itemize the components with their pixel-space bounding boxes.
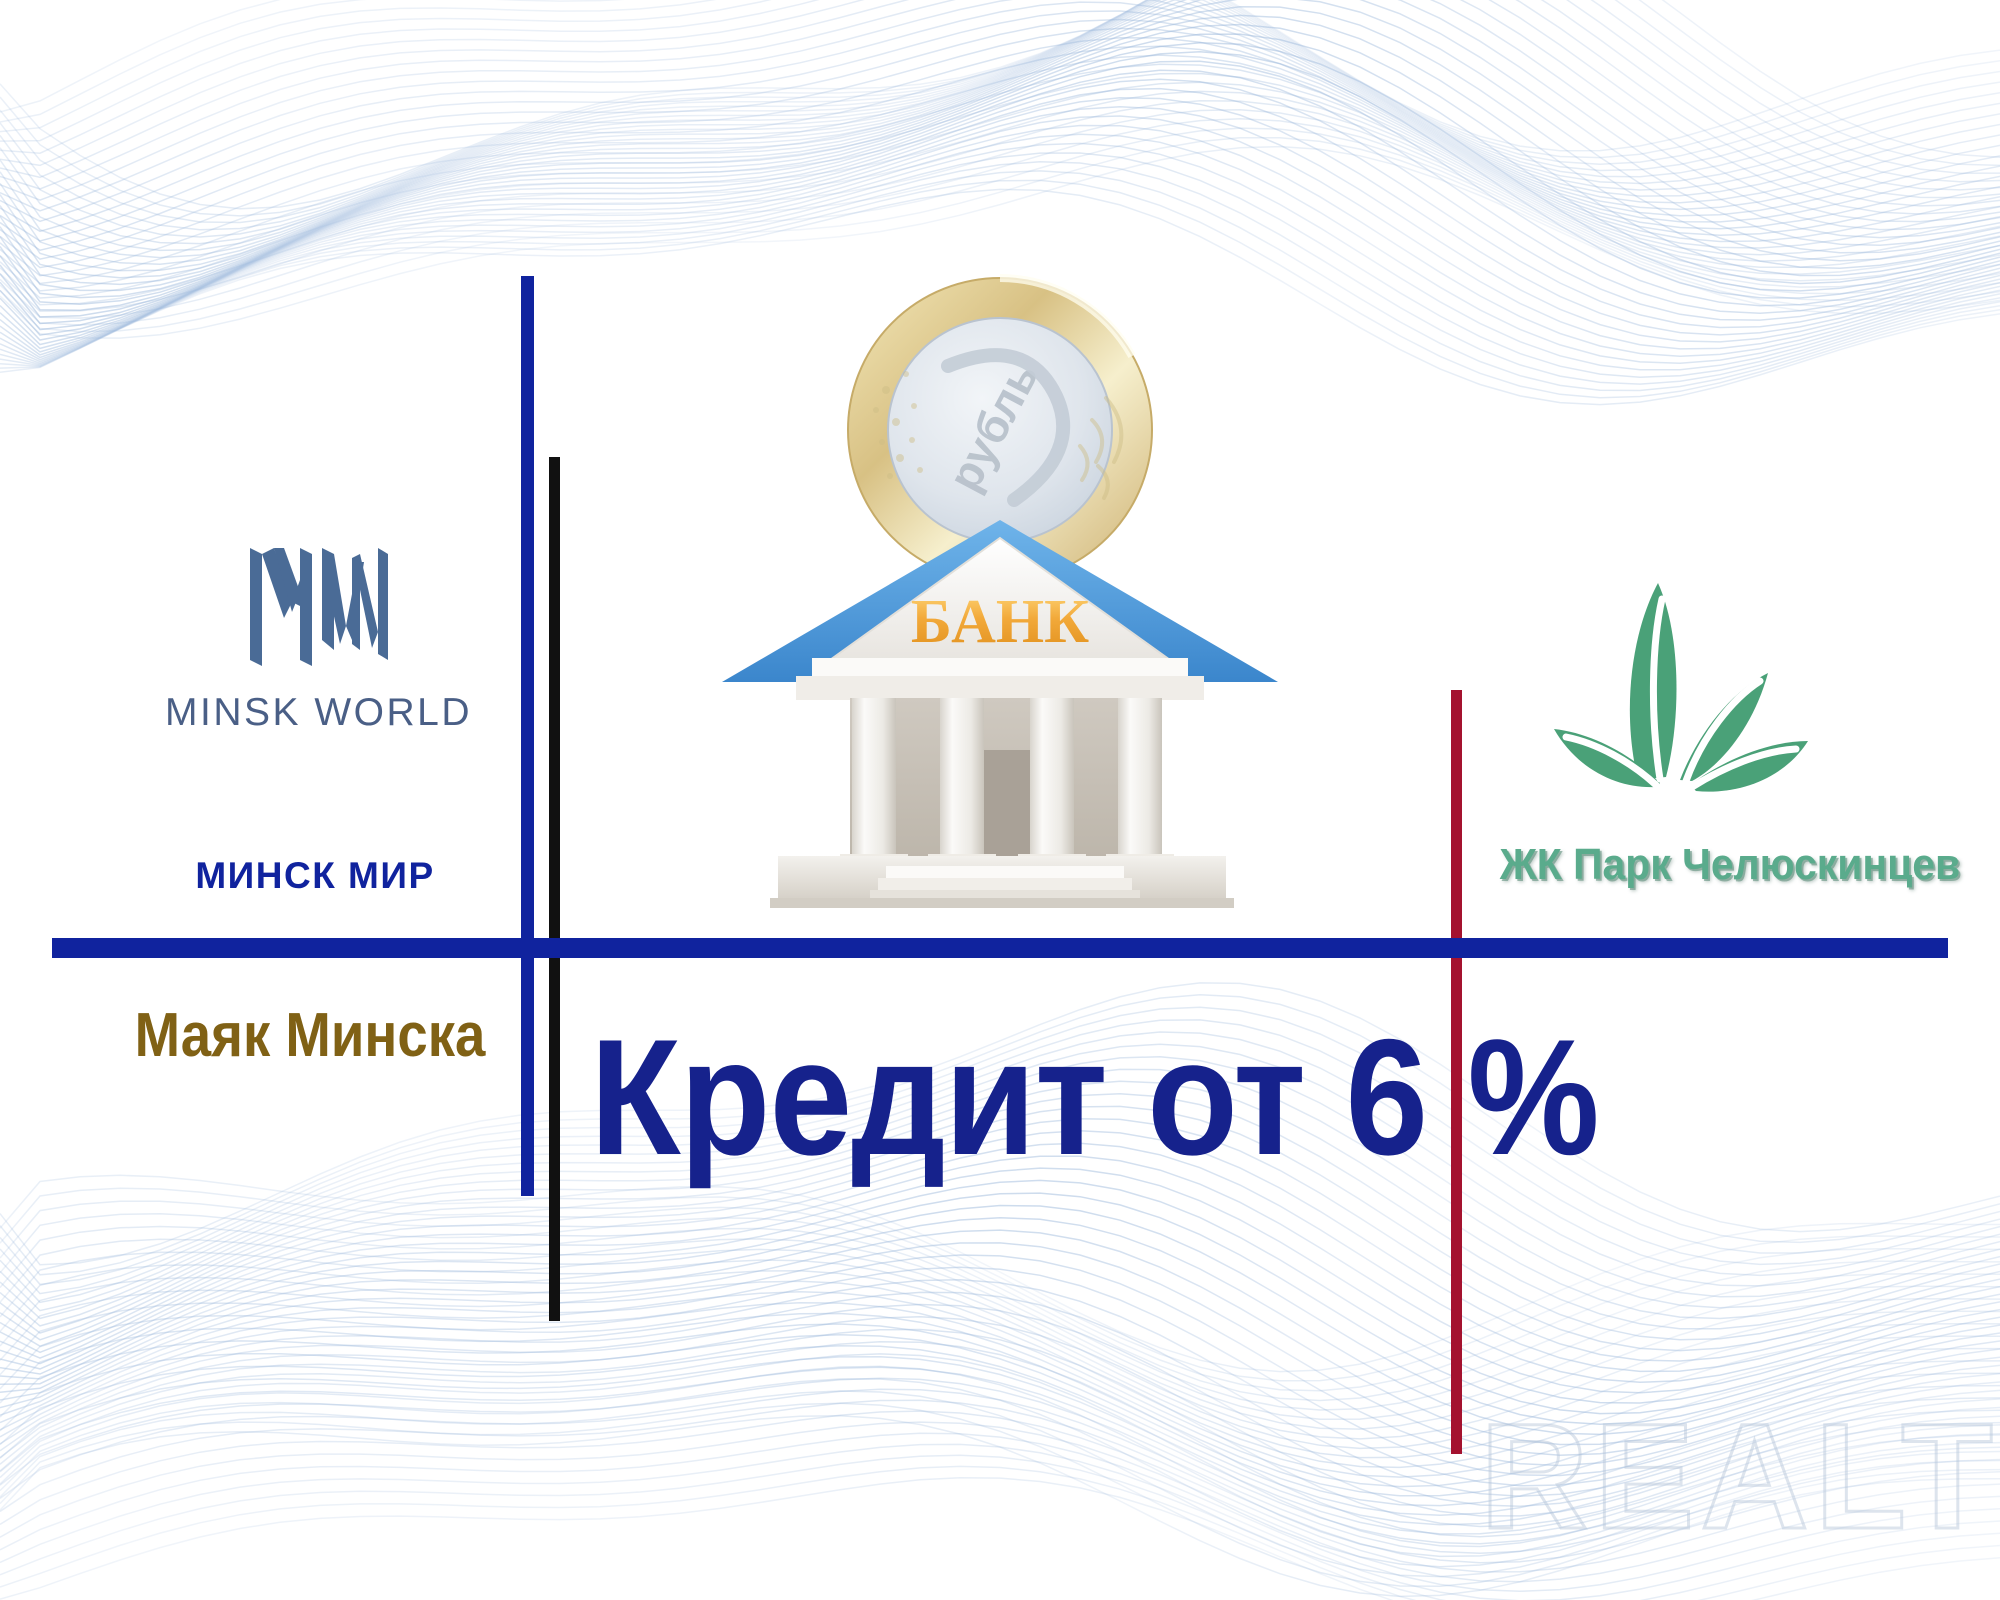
minsk-world-mw-monogram-icon	[240, 540, 390, 675]
mayak-minska-label: Маяк Минска	[134, 1000, 486, 1071]
vertical-blue-divider	[521, 276, 534, 1196]
minsk-world-wordmark: MINSK WORLD	[165, 691, 465, 735]
bank-steps	[870, 866, 1140, 902]
poster-canvas: REALT	[0, 0, 2000, 1600]
vertical-black-divider	[549, 457, 560, 1321]
bank-building-with-coin-icon: рубль БАНК	[700, 270, 1300, 910]
headline-credit-rate: Кредит от 6 %	[590, 1015, 1599, 1180]
minsk-mir-label: МИНСК МИР	[130, 855, 500, 897]
park-chelyuskintsev-label: ЖК Парк Челюскинцев	[1498, 840, 1963, 890]
green-leaves-icon	[1540, 565, 1860, 815]
minsk-world-logo: MINSK WORLD	[165, 540, 465, 735]
realt-watermark: REALT	[1480, 1390, 1999, 1563]
horizontal-blue-divider	[52, 938, 1948, 958]
bank-sign-text: БАНК	[911, 588, 1089, 656]
